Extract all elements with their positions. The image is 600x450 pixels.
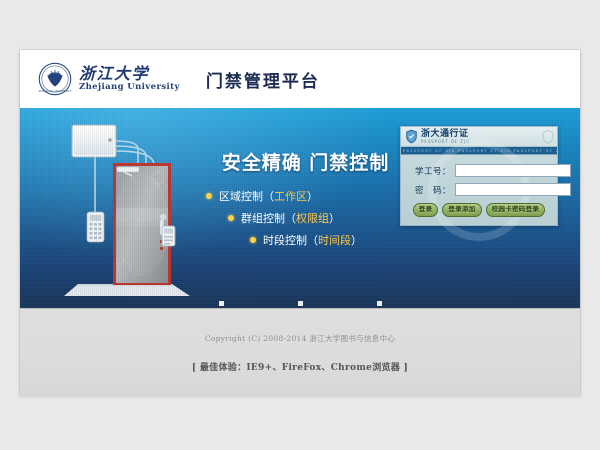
student-id-label: 学工号： (409, 165, 455, 177)
feature-label: 区域控制（ (219, 188, 274, 204)
shield-watermark-icon (542, 130, 554, 144)
bullet-dot-icon (228, 215, 234, 221)
student-id-input[interactable] (455, 164, 571, 177)
student-id-row: 学工号： (409, 164, 549, 177)
copyright-text: Copyright (C) 2008-2014 浙江大学图书与信息中心 (205, 333, 395, 344)
svg-text:ZHEJIANG UNIVERSITY: ZHEJIANG UNIVERSITY (39, 89, 72, 93)
site-header: ZHEJIANG UNIVERSITY 浙江大学 Zhejiang Univer… (20, 50, 580, 108)
feature-tail: ） (307, 188, 318, 204)
keypad-reader-icon (87, 212, 104, 242)
login-form: 学工号： 密 码： 登录 登录添加 校园卡密码登录 (401, 155, 557, 225)
password-label: 密 码： (409, 184, 455, 196)
list-item: 区域控制（ 工作区 ） (198, 188, 413, 204)
password-row: 密 码： (409, 183, 549, 196)
access-control-illustration (50, 116, 200, 306)
carousel-dot[interactable] (298, 301, 303, 306)
hero-banner: 安全精确 门禁控制 区域控制（ 工作区 ） 群组控制（ 权限组 ） (20, 108, 580, 308)
banner-copy: 安全精确 门禁控制 区域控制（ 工作区 ） 群组控制（ 权限组 ） (198, 148, 413, 254)
login-title-cn: 浙大通行证 (421, 130, 470, 139)
bullet-dot-icon (250, 237, 256, 243)
university-name-en: Zhejiang University (79, 82, 180, 93)
bullet-dot-icon (206, 193, 212, 199)
feature-label: 群组控制（ (241, 210, 296, 226)
banner-slogan: 安全精确 门禁控制 (198, 148, 413, 175)
best-view-text: [ 最佳体验：IE9+、FireFox、Chrome浏览器 ] (192, 360, 408, 373)
feature-tail: ） (351, 232, 362, 248)
feature-highlight: 工作区 (274, 188, 307, 204)
university-name-cn: 浙江大学 (79, 65, 180, 82)
feature-highlight: 时间段 (318, 232, 351, 248)
carousel-dot[interactable] (219, 301, 224, 306)
login-button[interactable]: 登录 (413, 203, 439, 217)
feature-tail: ） (329, 210, 340, 226)
shield-icon (405, 129, 418, 144)
carousel-dot[interactable] (377, 301, 382, 306)
site-footer: Copyright (C) 2008-2014 浙江大学图书与信息中心 [ 最佳… (20, 308, 580, 396)
access-controller-box-icon (72, 125, 116, 157)
banner-feature-list: 区域控制（ 工作区 ） 群组控制（ 权限组 ） 时段控制（ 时间段 (198, 188, 413, 248)
login-button-row: 登录 登录添加 校园卡密码登录 (409, 203, 549, 217)
feature-highlight: 权限组 (296, 210, 329, 226)
feature-label: 时段控制（ (263, 232, 318, 248)
password-input[interactable] (455, 183, 571, 196)
carousel-pagination (20, 301, 580, 306)
zju-seal-icon: ZHEJIANG UNIVERSITY (38, 62, 72, 96)
content-card: ZHEJIANG UNIVERSITY 浙江大学 Zhejiang Univer… (20, 50, 580, 395)
card-reader-icon (162, 226, 175, 246)
login-panel: 浙大通行证 PASSPORT OF ZJU PASSPORT OF ZJU PA… (400, 126, 558, 226)
list-item: 群组控制（ 权限组 ） (198, 210, 413, 226)
page-root: ZHEJIANG UNIVERSITY 浙江大学 Zhejiang Univer… (0, 0, 600, 450)
security-door-icon (113, 163, 171, 285)
campus-card-login-button[interactable]: 校园卡密码登录 (486, 203, 546, 217)
list-item: 时段控制（ 时间段 ） (198, 232, 413, 248)
university-wordmark: 浙江大学 Zhejiang University (79, 65, 180, 93)
page-title: 门禁管理平台 (206, 67, 320, 92)
login-add-button[interactable]: 登录添加 (442, 203, 481, 217)
